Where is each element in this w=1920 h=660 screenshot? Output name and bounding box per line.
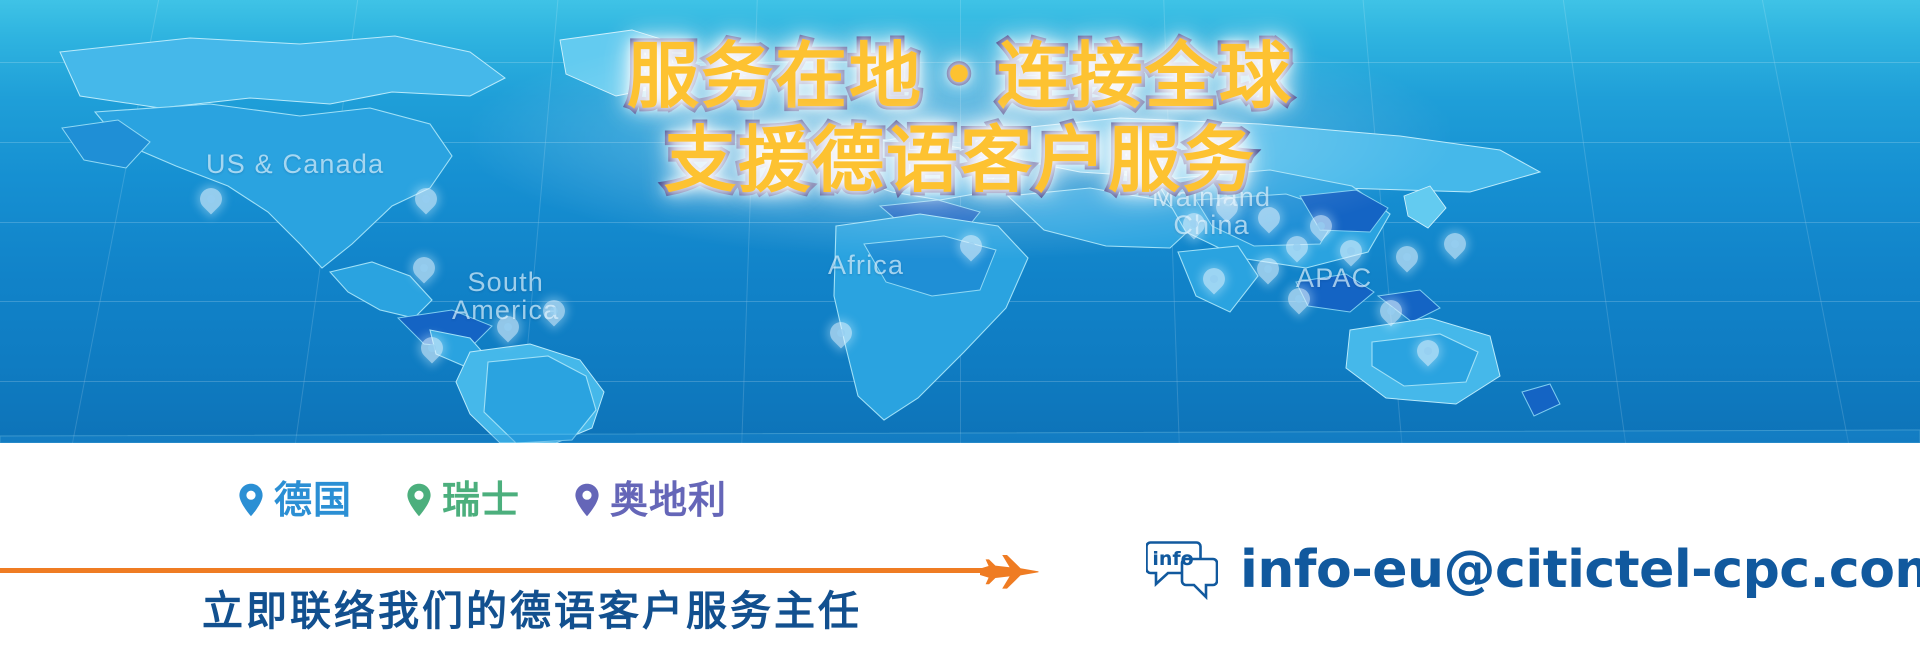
location-item-switzerland[interactable]: 瑞士	[406, 481, 520, 519]
map-pin-icon	[406, 483, 432, 517]
rule-bar	[0, 568, 1000, 573]
map-pin-icon	[238, 483, 264, 517]
airplane-icon	[980, 553, 1042, 593]
location-item-austria[interactable]: 奥地利	[574, 481, 727, 519]
contact-email[interactable]: info-eu@citictel-cpc.com	[1240, 544, 1920, 596]
location-item-germany[interactable]: 德国	[238, 481, 352, 519]
contact-block[interactable]: info info-eu@citictel-cpc.com	[1146, 539, 1920, 601]
info-chat-bubble-icon: info	[1146, 539, 1218, 601]
footer-section: 德国 瑞士 奥地利 立	[0, 443, 1920, 660]
location-name: 瑞士	[442, 481, 520, 519]
arrow-rule	[0, 555, 1000, 585]
location-list: 德国 瑞士 奥地利	[238, 481, 727, 519]
world-map-illustration	[0, 0, 1920, 443]
svg-text:info: info	[1152, 548, 1193, 570]
location-name: 奥地利	[610, 481, 727, 519]
hero-map-section: US & Canada South America Africa Mainlan…	[0, 0, 1920, 443]
location-name: 德国	[274, 481, 352, 519]
marketing-banner: US & Canada South America Africa Mainlan…	[0, 0, 1920, 660]
map-pin-icon	[574, 483, 600, 517]
tagline: 立即联络我们的德语客户服务主任	[202, 591, 862, 632]
